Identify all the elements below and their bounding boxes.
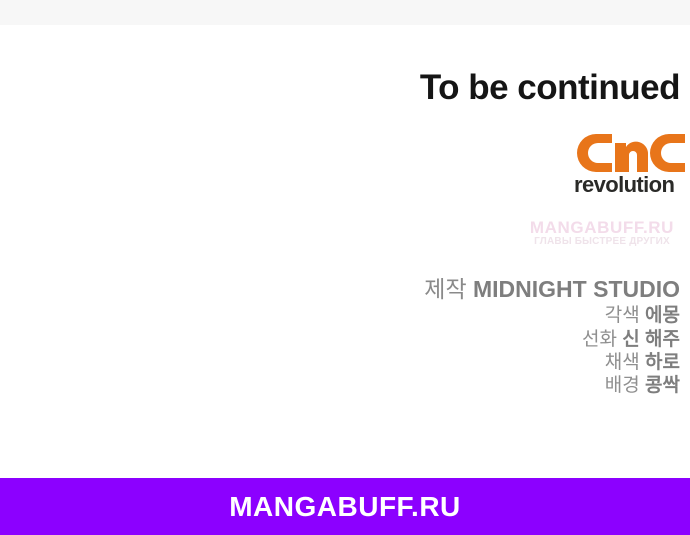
art-watermark-sub: ГЛАВЫ БЫСТРЕЕ ДРУГИХ [516,237,688,248]
production-credits: 제작 MIDNIGHT STUDIO 각색 에몽 선화 신 해주 채색 하로 배… [260,276,680,399]
credit-line-lineart: 선화 신 해주 [260,329,680,351]
credit-name: 하로 [645,352,680,373]
credit-line-adaptation: 각색 에몽 [260,305,680,327]
art-watermark-main: MANGABUFF.RU [516,219,688,237]
credit-line-coloring: 채색 하로 [260,352,680,374]
browser-top-bar [0,0,690,25]
art-watermark: MANGABUFF.RU ГЛАВЫ БЫСТРЕЕ ДРУГИХ [516,219,688,247]
site-banner[interactable]: MANGABUFF.RU [0,478,690,535]
cnc-logo-wordmark: revolution [574,174,686,196]
cnc-logo-mark [576,130,686,176]
credit-name: 신 해주 [622,329,680,350]
site-banner-text: MANGABUFF.RU [229,491,461,523]
credit-name: 콩싹 [645,375,680,396]
reader-page: To be continued revolution MANGABUFF.RU … [0,0,690,535]
credit-name: 에몽 [645,305,680,326]
credit-line-producer: 제작 MIDNIGHT STUDIO [260,276,680,303]
comic-panel: To be continued revolution MANGABUFF.RU … [0,25,690,478]
credit-name: MIDNIGHT STUDIO [473,276,680,302]
credit-role: 선화 [582,329,617,350]
cnc-revolution-logo: revolution [562,130,686,210]
credit-role: 배경 [605,375,640,396]
credit-line-background: 배경 콩싹 [260,375,680,397]
credit-role: 제작 [424,276,466,302]
to-be-continued-caption: To be continued [420,68,680,108]
credit-role: 채색 [605,352,640,373]
credit-role: 각색 [605,305,640,326]
